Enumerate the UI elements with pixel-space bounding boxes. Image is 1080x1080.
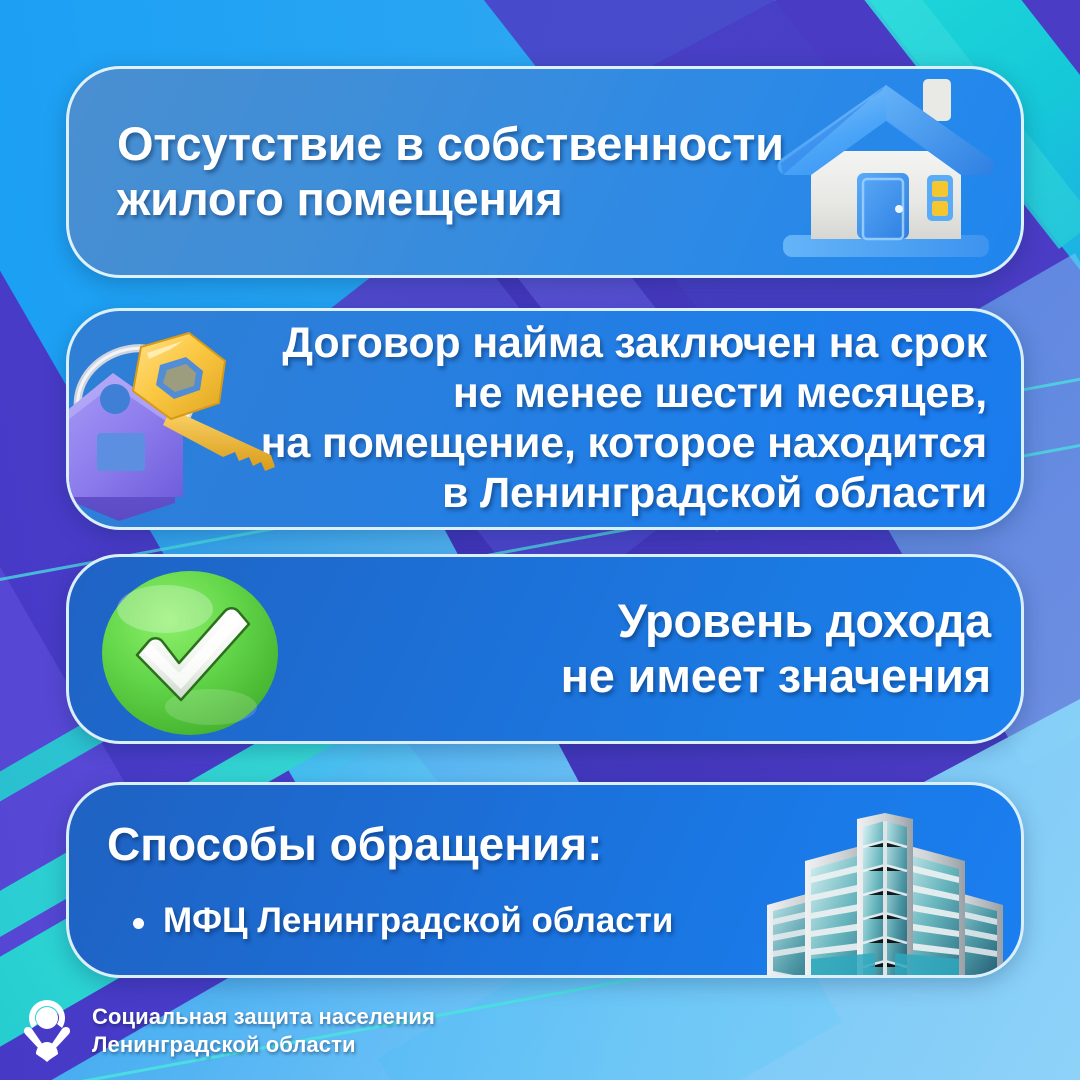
footer-text: Социальная защита населения Ленинградско…: [92, 1003, 435, 1059]
keys-icon: [66, 308, 291, 522]
house-icon: [755, 66, 1015, 278]
hands-holding-person-icon: [16, 996, 78, 1066]
card-income-level: Уровень дохода не имеет значения: [66, 554, 1024, 744]
footer-branding: Социальная защита населения Ленинградско…: [16, 996, 435, 1066]
card-income-level-text: Уровень дохода не имеет значения: [561, 594, 991, 703]
office-building-icon: [761, 813, 1009, 978]
check-circle-icon: [93, 567, 288, 739]
card-rent-contract: Договор найма заключен на срок не менее …: [66, 308, 1024, 530]
infographic-page: Отсутствие в собственности жилого помеще…: [0, 0, 1080, 1080]
card-no-property-text: Отсутствие в собственности жилого помеще…: [117, 117, 784, 226]
cards-container: Отсутствие в собственности жилого помеще…: [0, 0, 1080, 1080]
card-no-property: Отсутствие в собственности жилого помеще…: [66, 66, 1024, 278]
card-contact-methods: Способы обращения: МФЦ Ленинградской обл…: [66, 782, 1024, 978]
card-rent-contract-text: Договор найма заключен на срок не менее …: [261, 319, 987, 519]
